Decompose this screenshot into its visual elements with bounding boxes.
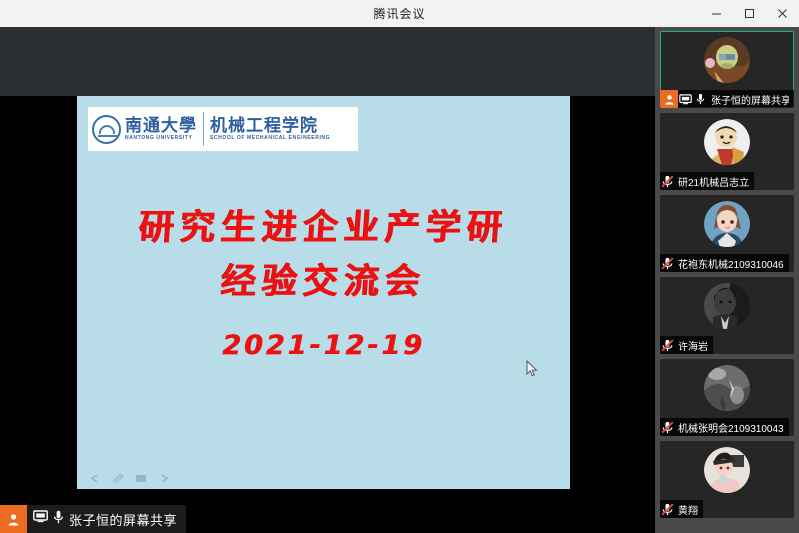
avatar — [704, 365, 750, 411]
participant-tile[interactable]: 花袍东机械2109310046 — [660, 195, 794, 272]
stage-top-band — [0, 27, 655, 96]
avatar — [704, 283, 750, 329]
prev-slide-icon[interactable] — [89, 474, 101, 483]
slide-menu-icon[interactable] — [135, 473, 147, 483]
university-crest-icon — [92, 115, 121, 144]
participant-name: 黄翔 — [675, 502, 698, 517]
tencent-meeting-window: 腾讯会议 南通大學 NANTONG UNIV — [0, 0, 799, 533]
presenter-controls[interactable] — [89, 473, 170, 483]
university-name-block: 南通大學 NANTONG UNIVERSITY — [125, 117, 197, 141]
microphone-muted-icon — [660, 254, 675, 272]
shared-screen-stage[interactable]: 南通大學 NANTONG UNIVERSITY 机械工程学院 SCHOOL OF… — [0, 27, 655, 533]
microphone-icon — [53, 510, 64, 529]
slide-date: 2021-12-19 — [77, 330, 570, 361]
tile-status-footer: 花袍东机械2109310046 — [660, 254, 789, 272]
slide-title-line2: 经验交流会 — [77, 255, 570, 309]
pen-icon[interactable] — [112, 473, 124, 483]
host-person-icon — [660, 90, 678, 108]
avatar — [704, 119, 750, 165]
window-controls — [700, 0, 799, 27]
avatar — [704, 201, 750, 247]
university-name-cn: 南通大學 — [125, 117, 197, 135]
tile-status-footer: 黄翔 — [660, 500, 703, 518]
tile-status-footer: 张子恒的屏幕共享 — [660, 90, 794, 108]
participant-name: 许海岩 — [675, 338, 708, 353]
school-name-cn: 机械工程学院 — [210, 117, 330, 135]
share-owner-label: 张子恒的屏幕共享 — [69, 510, 177, 529]
tile-status-footer: 许海岩 — [660, 336, 713, 354]
participant-name: 研21机械吕志立 — [675, 174, 749, 189]
screen-share-icon — [33, 510, 48, 528]
avatar — [704, 447, 750, 493]
participant-tile[interactable]: 黄翔 — [660, 441, 794, 518]
participant-tile[interactable]: 张子恒的屏幕共享 — [660, 31, 794, 108]
mouse-pointer-icon — [526, 360, 538, 378]
tile-status-footer: 研21机械吕志立 — [660, 172, 754, 190]
tile-status-footer: 机械张明会2109310043 — [660, 418, 789, 436]
title-bar: 腾讯会议 — [0, 0, 799, 27]
participant-tile[interactable]: 许海岩 — [660, 277, 794, 354]
microphone-muted-icon — [660, 336, 675, 354]
school-name-block: 机械工程学院 SCHOOL OF MECHANICAL ENGINEERING — [210, 117, 330, 141]
microphone-muted-icon — [660, 172, 675, 190]
participant-sidebar[interactable]: 张子恒的屏幕共享 — [655, 27, 799, 533]
slide-title-group: 研究生进企业产学研 经验交流会 2021-12-19 — [77, 201, 570, 361]
share-meta: 张子恒的屏幕共享 — [27, 505, 186, 533]
microphone-muted-icon — [660, 418, 675, 436]
university-name-en: NANTONG UNIVERSITY — [125, 135, 197, 141]
close-button[interactable] — [766, 0, 799, 27]
maximize-button[interactable] — [733, 0, 766, 27]
microphone-icon — [693, 90, 708, 108]
screen-share-icon — [678, 90, 693, 108]
screen-share-status-bar: 张子恒的屏幕共享 — [0, 505, 186, 533]
logo-divider — [203, 112, 204, 146]
minimize-button[interactable] — [700, 0, 733, 27]
host-person-icon — [0, 505, 27, 533]
participant-tile[interactable]: 机械张明会2109310043 — [660, 359, 794, 436]
next-slide-icon[interactable] — [158, 474, 170, 483]
window-title: 腾讯会议 — [373, 5, 425, 22]
presentation-slide: 南通大學 NANTONG UNIVERSITY 机械工程学院 SCHOOL OF… — [77, 96, 570, 489]
slide-title-line1: 研究生进企业产学研 — [77, 201, 570, 255]
university-logo-banner: 南通大學 NANTONG UNIVERSITY 机械工程学院 SCHOOL OF… — [88, 107, 358, 151]
school-name-en: SCHOOL OF MECHANICAL ENGINEERING — [210, 135, 330, 141]
participant-tile[interactable]: 研21机械吕志立 — [660, 113, 794, 190]
microphone-muted-icon — [660, 500, 675, 518]
participant-name: 机械张明会2109310043 — [675, 420, 784, 435]
participant-name: 张子恒的屏幕共享 — [708, 92, 789, 107]
participant-name: 花袍东机械2109310046 — [675, 256, 784, 271]
avatar — [704, 37, 750, 83]
